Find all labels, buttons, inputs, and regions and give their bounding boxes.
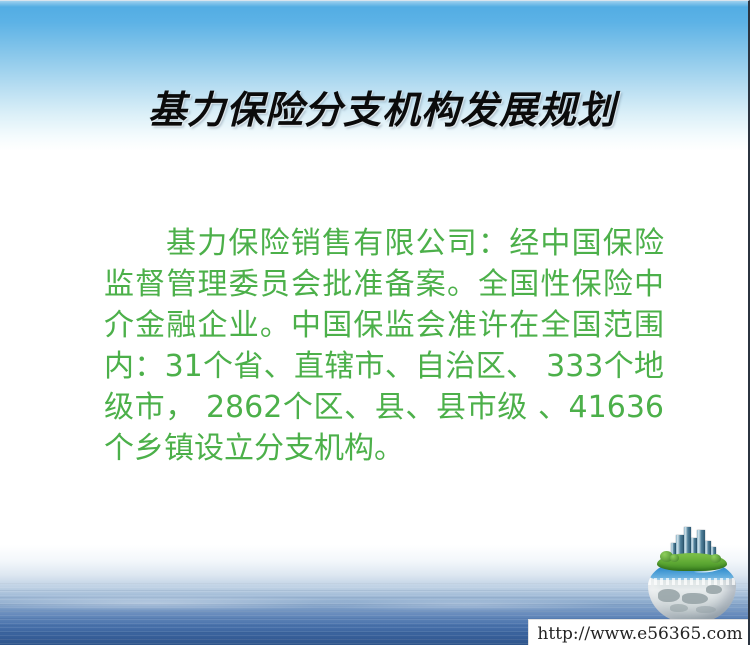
slide-title: 基力保险分支机构发展规划: [0, 87, 750, 133]
globe-landmass-5: [696, 606, 716, 613]
watermark-url: http://www.e56365.com: [537, 624, 742, 644]
tree-2: [670, 554, 679, 562]
globe-landmass-4: [670, 604, 688, 612]
globe-landmass-1: [658, 589, 680, 602]
water-glint: [0, 595, 748, 611]
tree-3: [710, 554, 721, 563]
globe-landmass-3: [706, 585, 722, 594]
eco-city-globe-icon: [646, 523, 740, 625]
watermark-box: http://www.e56365.com: [528, 619, 750, 645]
presentation-slide: 基力保险分支机构发展规划 基力保险销售有限公司：经中国保险监督管理委员会批准备案…: [0, 0, 750, 645]
slide-body-paragraph: 基力保险销售有限公司：经中国保险监督管理委员会批准备案。全国性保险中介金融企业。…: [104, 223, 664, 469]
globe-surf-line: [648, 578, 736, 585]
globe-landmass-2: [682, 593, 708, 604]
sky-highlight: [0, 1, 748, 7]
